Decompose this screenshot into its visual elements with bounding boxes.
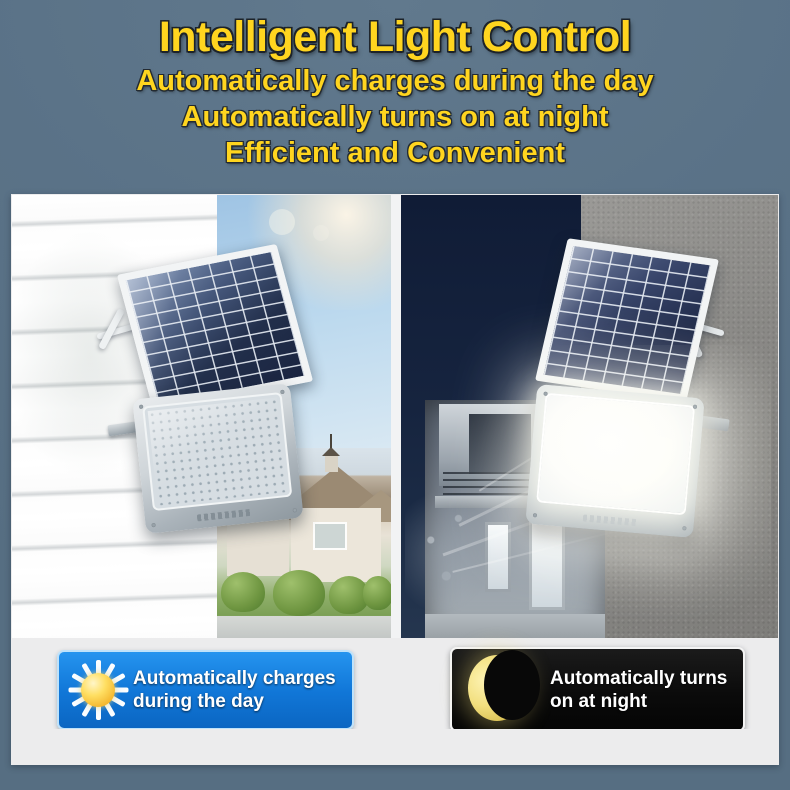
driveway bbox=[217, 616, 391, 638]
product-ad-page: Intelligent Light Control Automatically … bbox=[0, 0, 790, 790]
badge-day-charging[interactable]: Automatically charges during the day bbox=[57, 650, 354, 730]
subtitle-line-3: Efficient and Convenient bbox=[0, 134, 790, 170]
subtitle-line-1: Automatically charges during the day bbox=[0, 60, 790, 98]
nighttime-photo bbox=[401, 195, 778, 638]
lens-flare-dot bbox=[313, 225, 329, 241]
subtitle-line-2: Automatically turns on at night bbox=[0, 98, 790, 134]
daytime-photo bbox=[12, 195, 391, 638]
balcony-recess bbox=[469, 414, 531, 474]
floodlight-off bbox=[132, 383, 303, 534]
solar-cell-grid bbox=[544, 246, 711, 394]
house-window bbox=[313, 522, 347, 550]
content-card: Automatically charges during the day Aut… bbox=[11, 194, 779, 765]
card-footer-space bbox=[11, 729, 779, 765]
page-title: Intelligent Light Control bbox=[0, 0, 790, 60]
headline-block: Intelligent Light Control Automatically … bbox=[0, 0, 790, 194]
photo-comparison-strip bbox=[12, 195, 778, 638]
garden-shrub bbox=[273, 570, 325, 616]
tree-foliage bbox=[405, 492, 491, 612]
garden-shrub bbox=[221, 572, 265, 612]
moon-icon bbox=[452, 650, 548, 730]
moon-shadow bbox=[484, 650, 540, 720]
house-wall bbox=[227, 518, 289, 576]
floodlight-on bbox=[525, 384, 705, 538]
sun-disc bbox=[81, 673, 115, 707]
garden-shrub bbox=[363, 576, 391, 610]
house-window bbox=[529, 518, 565, 610]
panel-divider bbox=[391, 195, 401, 638]
sun-icon bbox=[59, 652, 137, 728]
badge-day-label: Automatically charges during the day bbox=[133, 667, 336, 713]
led-chip-array bbox=[148, 398, 287, 506]
lens-flare-dot bbox=[269, 209, 295, 235]
roof-cupola bbox=[325, 456, 338, 472]
floodlight-lens-glowing bbox=[536, 393, 695, 516]
ground-surface bbox=[425, 614, 605, 638]
badge-night-lighting[interactable]: Automatically turns on at night bbox=[450, 647, 745, 732]
solar-panel-night bbox=[535, 238, 719, 401]
floodlight-lens bbox=[142, 392, 292, 511]
badge-night-label: Automatically turns on at night bbox=[550, 667, 727, 713]
